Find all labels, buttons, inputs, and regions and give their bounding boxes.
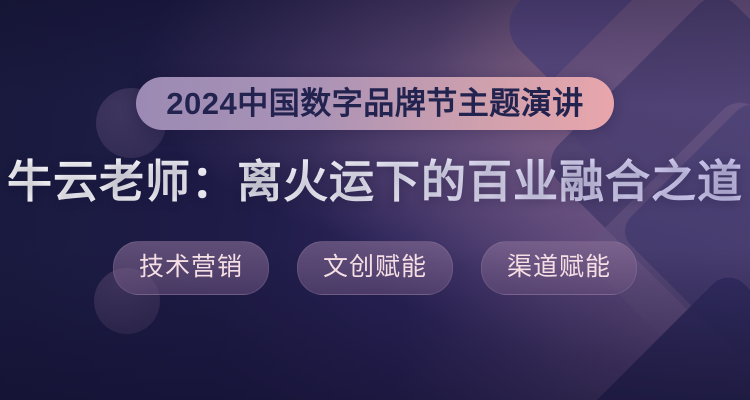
promo-poster: 2024中国数字品牌节主题演讲 牛云老师：离火运下的百业融合之道 技术营销 文创…	[0, 0, 750, 400]
event-badge-label: 2024中国数字品牌节主题演讲	[166, 88, 583, 119]
page-title: 牛云老师：离火运下的百业融合之道	[7, 158, 743, 207]
tag-label: 技术营销	[139, 255, 243, 280]
tag-item-3[interactable]: 渠道赋能	[481, 241, 637, 295]
event-badge: 2024中国数字品牌节主题演讲	[136, 77, 613, 130]
tag-label: 文创赋能	[323, 255, 427, 280]
tag-item-1[interactable]: 技术营销	[113, 241, 269, 295]
poster-content: 2024中国数字品牌节主题演讲 牛云老师：离火运下的百业融合之道 技术营销 文创…	[0, 0, 750, 400]
tag-item-2[interactable]: 文创赋能	[297, 241, 453, 295]
tag-label: 渠道赋能	[507, 255, 611, 280]
tag-list: 技术营销 文创赋能 渠道赋能	[113, 241, 637, 295]
